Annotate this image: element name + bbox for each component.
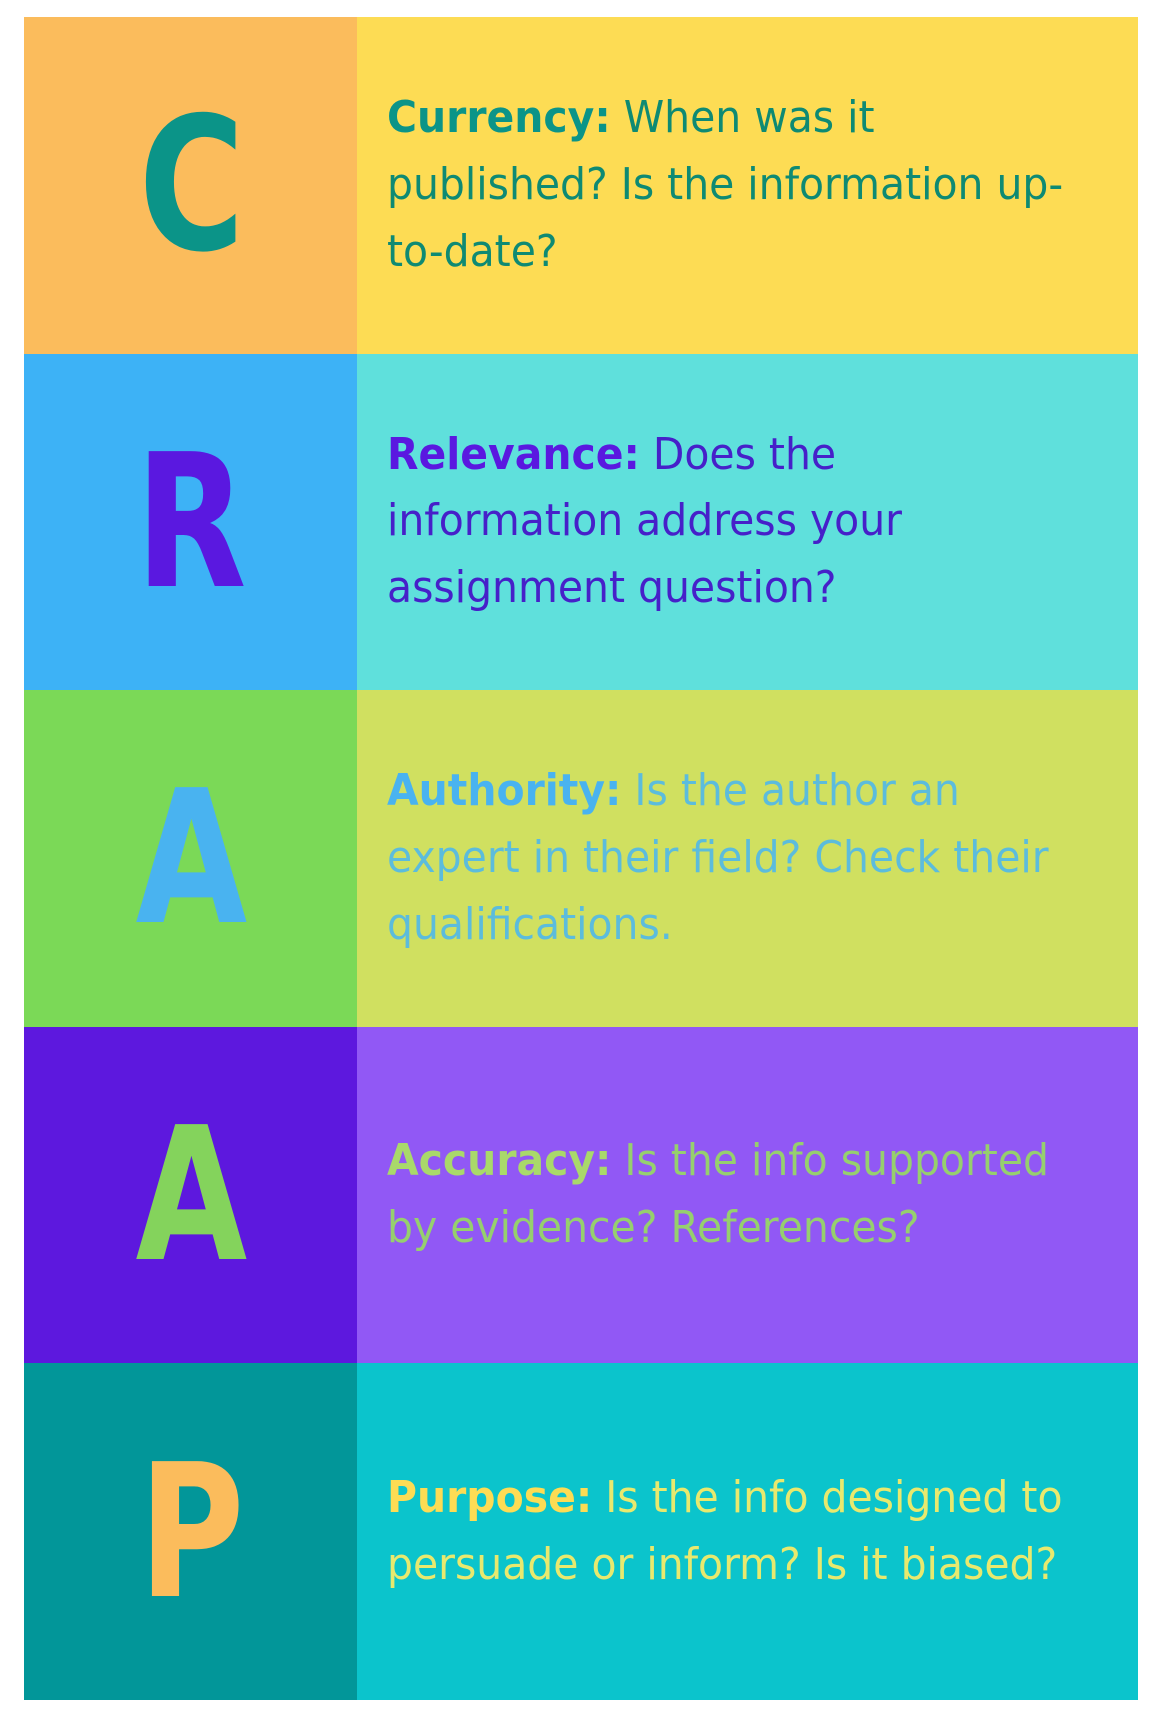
criterion-term-accuracy: Accuracy: <box>387 1135 611 1186</box>
letter-cell-relevance: R <box>24 354 357 691</box>
text-cell-accuracy: Accuracy: Is the info supported by evide… <box>357 1027 1138 1364</box>
criterion-text-authority: Authority: Is the author an expert in th… <box>387 758 1071 959</box>
letter-cell-accuracy: A <box>24 1027 357 1364</box>
text-cell-currency: Currency: When was it published? Is the … <box>357 17 1138 354</box>
letter-cell-authority: A <box>24 690 357 1027</box>
text-cell-authority: Authority: Is the author an expert in th… <box>357 690 1138 1027</box>
criterion-row-relevance: R Relevance: Does the information addres… <box>24 354 1138 691</box>
criterion-text-purpose: Purpose: Is the info designed to persuad… <box>387 1465 1071 1599</box>
criterion-text-accuracy: Accuracy: Is the info supported by evide… <box>387 1128 1071 1262</box>
criterion-row-authority: A Authority: Is the author an expert in … <box>24 690 1138 1027</box>
criterion-text-relevance: Relevance: Does the information address … <box>387 422 1071 623</box>
criterion-term-currency: Currency: <box>387 92 611 143</box>
criterion-row-purpose: P Purpose: Is the info designed to persu… <box>24 1363 1138 1700</box>
letter-cell-currency: C <box>24 17 357 354</box>
acronym-letter-a-authority: A <box>135 773 245 943</box>
text-cell-relevance: Relevance: Does the information address … <box>357 354 1138 691</box>
criterion-term-authority: Authority: <box>387 765 621 816</box>
letter-cell-purpose: P <box>24 1363 357 1700</box>
acronym-letter-c: C <box>138 100 242 270</box>
acronym-letter-r: R <box>136 437 246 607</box>
acronym-letter-a-accuracy: A <box>135 1110 245 1280</box>
criterion-term-relevance: Relevance: <box>387 429 640 480</box>
criterion-term-purpose: Purpose: <box>387 1472 592 1523</box>
text-cell-purpose: Purpose: Is the info designed to persuad… <box>357 1363 1138 1700</box>
acronym-letter-p: P <box>138 1447 242 1617</box>
criterion-text-currency: Currency: When was it published? Is the … <box>387 85 1071 286</box>
criterion-row-accuracy: A Accuracy: Is the info supported by evi… <box>24 1027 1138 1364</box>
craap-test-infographic: C Currency: When was it published? Is th… <box>24 17 1138 1700</box>
criterion-row-currency: C Currency: When was it published? Is th… <box>24 17 1138 354</box>
